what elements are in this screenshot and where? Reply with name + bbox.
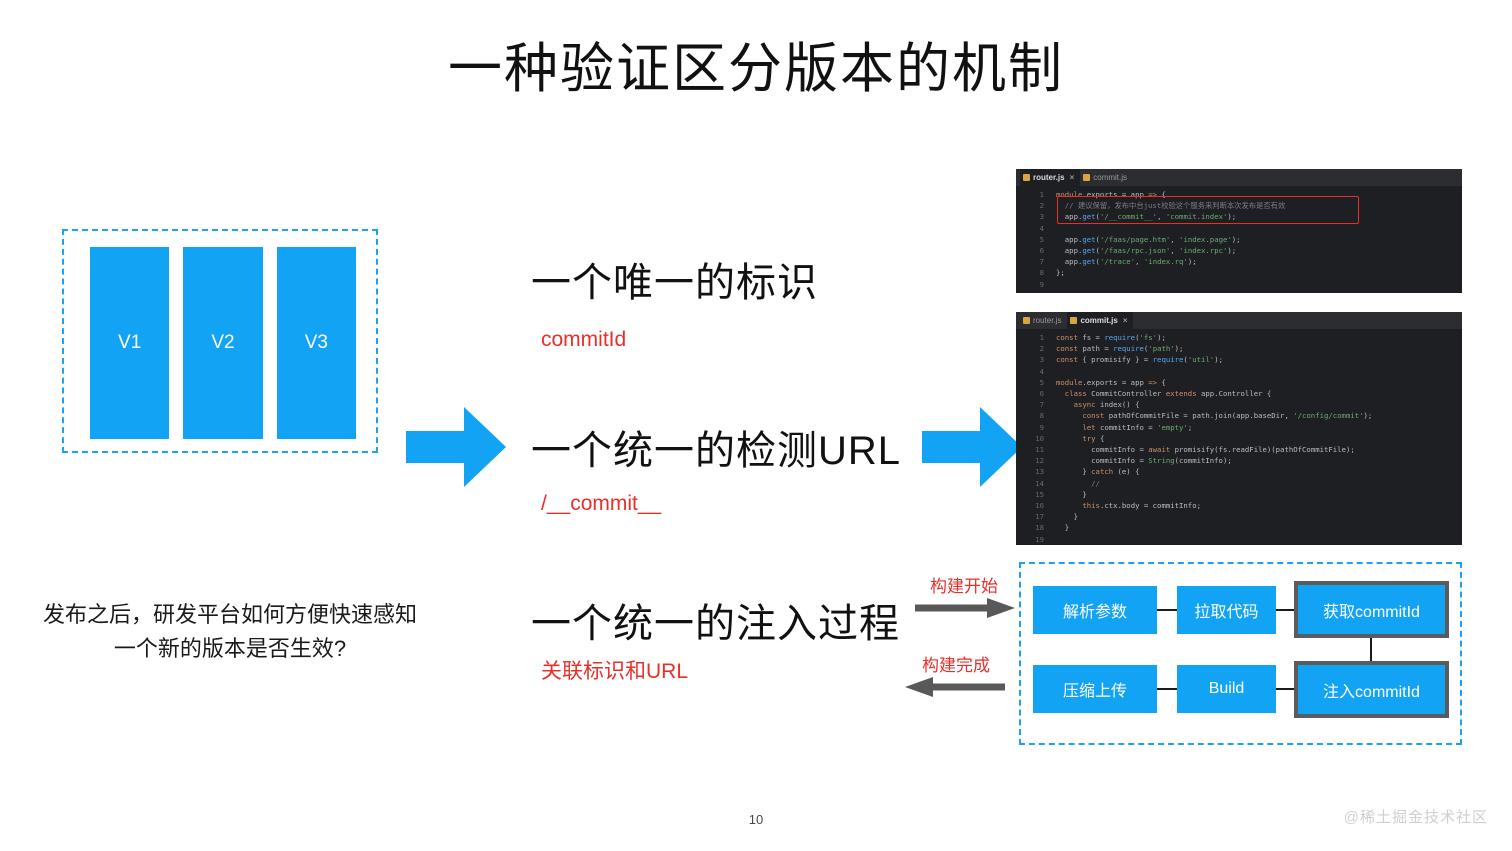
flow-step-compress-upload: 压缩上传 xyxy=(1033,665,1157,713)
flow-step-label: 拉取代码 xyxy=(1194,598,1258,622)
editor-body: 1 2 3 4 5 6 7 8 9 10 11 12 13 14 15 16 1… xyxy=(1016,329,1462,545)
version-label: V1 xyxy=(118,332,141,354)
requirement-sub-1: commitId xyxy=(541,328,626,352)
requirement-sub-2: /__commit__ xyxy=(541,492,661,516)
flow-connector xyxy=(1157,688,1177,690)
requirement-heading-2: 一个统一的检测URL xyxy=(531,418,901,476)
version-label: V2 xyxy=(211,332,234,354)
requirement-heading-1: 一个唯一的标识 xyxy=(531,250,818,308)
flow-step-pull-code: 拉取代码 xyxy=(1177,586,1276,634)
flow-step-build: Build xyxy=(1177,665,1276,713)
editor-tabbar: router.js commit.js × xyxy=(1016,312,1462,329)
tab-router-js[interactable]: router.js × xyxy=(1020,169,1080,186)
close-icon[interactable]: × xyxy=(1070,173,1075,182)
tab-label: commit.js xyxy=(1093,173,1127,182)
flow-step-label: 解析参数 xyxy=(1063,598,1127,622)
watermark: @稀土掘金技术社区 xyxy=(1344,806,1488,827)
line-number-gutter: 1 2 3 4 5 6 7 8 9 xyxy=(1016,189,1050,290)
code-editor-commit: router.js commit.js × 1 2 3 4 5 6 7 8 9 … xyxy=(1016,312,1462,545)
version-box-v1: V1 xyxy=(90,247,169,439)
js-file-icon xyxy=(1023,174,1030,181)
code-content[interactable]: const fs = require('fs'); const path = r… xyxy=(1050,332,1462,545)
tab-commit-js[interactable]: commit.js × xyxy=(1067,312,1133,329)
editor-tabbar: router.js × commit.js xyxy=(1016,169,1462,186)
code-editor-router: router.js × commit.js 1 2 3 4 5 6 7 8 9 … xyxy=(1016,169,1462,293)
version-box-v2: V2 xyxy=(183,247,262,439)
build-start-label: 构建开始 xyxy=(930,572,998,597)
right-arrow-icon xyxy=(922,405,1022,489)
flow-connector xyxy=(1276,609,1294,611)
question-text: 发布之后，研发平台如何方便快速感知一个新的版本是否生效? xyxy=(34,598,426,666)
line-number-gutter: 1 2 3 4 5 6 7 8 9 10 11 12 13 14 15 16 1… xyxy=(1016,332,1050,545)
js-file-icon xyxy=(1083,174,1090,181)
build-start-arrow-icon xyxy=(915,597,1015,619)
js-file-icon xyxy=(1070,317,1077,324)
flow-connector xyxy=(1157,609,1177,611)
editor-body: 1 2 3 4 5 6 7 8 9 module.exports = app =… xyxy=(1016,186,1462,290)
js-file-icon xyxy=(1023,317,1030,324)
tab-label: commit.js xyxy=(1080,316,1117,325)
close-icon[interactable]: × xyxy=(1123,316,1128,325)
flow-step-label: 注入commitId xyxy=(1323,678,1420,702)
tab-router-js[interactable]: router.js xyxy=(1020,312,1067,329)
versions-list: V1 V2 V3 xyxy=(90,247,356,439)
versions-dashed-group: V1 V2 V3 xyxy=(62,229,378,453)
build-done-label: 构建完成 xyxy=(922,651,990,676)
requirement-heading-3: 一个统一的注入过程 xyxy=(531,591,900,649)
requirement-sub-3: 关联标识和URL xyxy=(541,655,688,685)
page-title: 一种验证区分版本的机制 xyxy=(0,38,1512,100)
right-arrow-icon xyxy=(406,405,506,489)
flow-connector-vertical xyxy=(1370,638,1372,661)
flow-step-parse-params: 解析参数 xyxy=(1033,586,1157,634)
build-done-arrow-icon xyxy=(905,676,1005,698)
tab-label: router.js xyxy=(1033,173,1065,182)
flow-step-label: 压缩上传 xyxy=(1063,677,1127,701)
flow-step-label: Build xyxy=(1209,680,1245,698)
page-number: 10 xyxy=(0,812,1512,827)
flow-connector xyxy=(1276,688,1294,690)
tab-commit-js[interactable]: commit.js xyxy=(1080,169,1133,186)
flow-step-label: 获取commitId xyxy=(1323,598,1420,622)
flow-step-get-commitid: 获取commitId xyxy=(1294,581,1449,638)
version-label: V3 xyxy=(305,332,328,354)
code-content[interactable]: module.exports = app => { // 建议保留，发布中台ju… xyxy=(1050,189,1462,290)
flow-step-inject-commitid: 注入commitId xyxy=(1294,661,1449,718)
version-box-v3: V3 xyxy=(277,247,356,439)
tab-label: router.js xyxy=(1033,316,1061,325)
